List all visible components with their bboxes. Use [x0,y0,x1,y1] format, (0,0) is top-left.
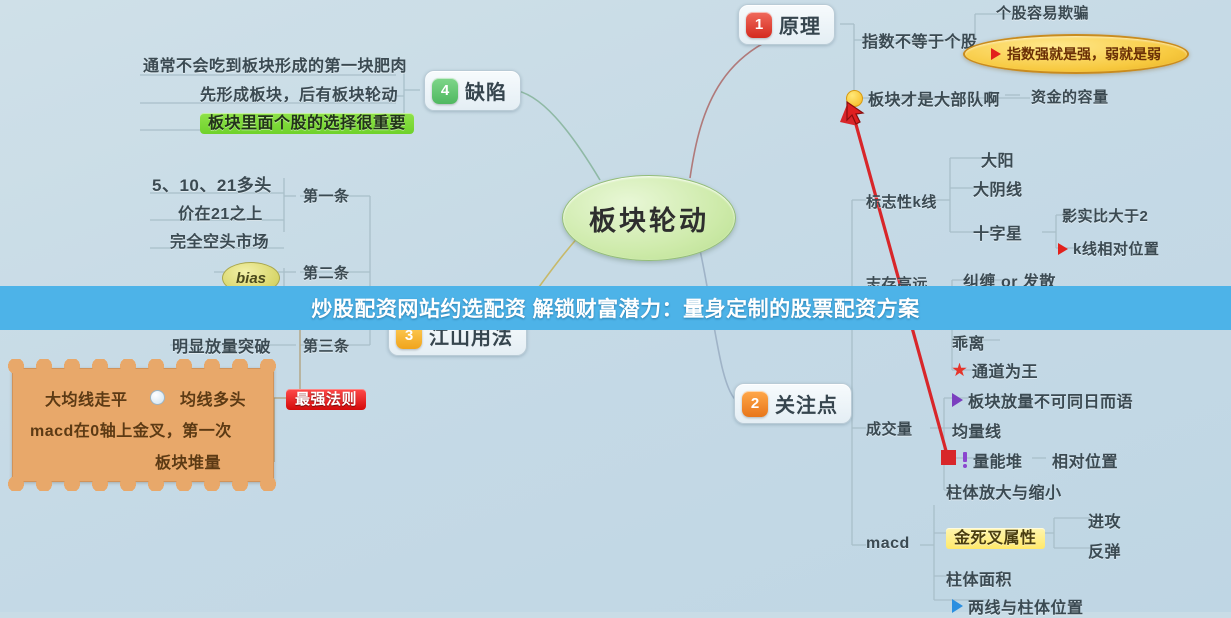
volume-item-5[interactable]: 柱体放大与缩小 [946,479,1062,503]
ma-item-4-label: 通道为王 [972,358,1038,382]
defect-item-3-highlight: 板块里面个股的选择很重要 [200,113,414,134]
strongest-item-3[interactable]: macd在0轴上金叉，第一次 [30,417,232,441]
index-strength-label: 指数强就是强，弱就是弱 [1007,44,1161,64]
play-triangle-icon [952,393,963,407]
main-topic-principle[interactable]: 1 原理 [738,4,835,45]
macd-item-3[interactable]: 两线与柱体位置 [952,594,1084,618]
mindmap-canvas: 板块轮动 4 缺陷 3 江山用法 1 原理 2 关注点 通常不会吃到板块形成的第… [0,0,1231,612]
main-topic-focus[interactable]: 2 关注点 [734,383,852,424]
badge-1: 1 [746,12,772,38]
volume-item-1-label: 板块放量不可同日而语 [968,388,1133,412]
strongest-item-4[interactable]: 板块堆量 [155,449,221,473]
main-topic-defect[interactable]: 4 缺陷 [424,70,521,111]
mouse-pointer-icon [845,100,867,126]
rule2-label[interactable]: 第二条 [303,262,350,283]
kline-item-2[interactable]: 大阴线 [973,176,1023,200]
volume-item-1[interactable]: 板块放量不可同日而语 [952,388,1133,412]
index-strength-node[interactable]: 指数强就是强，弱就是弱 [963,34,1189,74]
strongest-rule-badge[interactable]: 最强法则 [286,388,366,409]
ma-item-3[interactable]: 乖离 [952,330,985,354]
principle-sub-1[interactable]: 个股容易欺骗 [996,2,1089,23]
volume-group-label[interactable]: 成交量 [866,418,913,439]
rule3-item-1[interactable]: 明显放量突破 [172,333,271,357]
strongest-item-1[interactable]: 大均线走平 [45,386,128,410]
principle-sub-2[interactable]: 资金的容量 [1031,86,1109,107]
play-triangle-icon [1058,243,1068,255]
main-topic-defect-label: 缺陷 [465,76,507,105]
macd-item-1-highlight: 金死叉属性 [946,528,1045,549]
star-icon [952,363,967,378]
defect-item-2[interactable]: 先形成板块，后有板块轮动 [200,81,398,105]
play-triangle-icon [991,48,1001,60]
kline-sub-1[interactable]: 影实比大于2 [1062,205,1148,226]
center-node-label: 板块轮动 [589,199,709,238]
rule1-item-1[interactable]: 5、10、21多头 [152,171,272,196]
volume-item-2[interactable]: 均量线 [952,418,1002,442]
bullet-dot-icon [150,390,165,405]
rule1-label[interactable]: 第一条 [303,185,350,206]
principle-item-1[interactable]: 指数不等于个股 [862,28,978,52]
badge-4: 4 [432,78,458,104]
ma-item-4[interactable]: 通道为王 [952,358,1038,382]
strongest-item-2[interactable]: 均线多头 [180,386,246,410]
volume-item-4[interactable]: 相对位置 [1052,448,1118,472]
macd-item-3-label: 两线与柱体位置 [968,594,1084,618]
strongest-rule-label: 最强法则 [286,389,366,410]
volume-item-3-label: 量能堆 [973,448,1023,472]
exclamation-icon [962,452,968,468]
badge-2: 2 [742,391,768,417]
macd-sub-attack[interactable]: 进攻 [1088,508,1121,532]
principle-item-2[interactable]: 板块才是大部队啊 [846,86,1000,110]
rule1-item-3[interactable]: 完全空头市场 [170,228,269,252]
macd-group-label[interactable]: macd [866,535,910,553]
main-topic-focus-label: 关注点 [775,389,838,418]
volume-item-3[interactable]: 量能堆 [962,448,1023,472]
macd-item-1[interactable]: 金死叉属性 [946,524,1045,548]
kline-group-label[interactable]: 标志性k线 [866,191,937,212]
macd-item-2[interactable]: 柱体面积 [946,566,1012,590]
kline-item-3[interactable]: 十字星 [973,220,1023,244]
defect-item-1[interactable]: 通常不会吃到板块形成的第一块肥肉 [143,52,407,76]
kline-item-1[interactable]: 大阳 [981,147,1014,171]
promo-banner-text: 炒股配资网站约选配资 解锁财富潜力：量身定制的股票配资方案 [311,293,919,323]
rule1-item-2[interactable]: 价在21之上 [178,200,263,224]
kline-sub-2-label: k线相对位置 [1073,238,1159,259]
rule3-label[interactable]: 第三条 [303,335,350,356]
main-topic-principle-label: 原理 [779,10,821,39]
defect-item-3[interactable]: 板块里面个股的选择很重要 [200,109,414,133]
promo-banner[interactable]: 炒股配资网站约选配资 解锁财富潜力：量身定制的股票配资方案 [0,286,1231,330]
bias-label: bias [236,270,266,287]
kline-sub-2[interactable]: k线相对位置 [1058,238,1159,259]
principle-item-2-label: 板块才是大部队啊 [868,86,1000,110]
play-triangle-icon [952,599,963,613]
macd-sub-rebound[interactable]: 反弹 [1088,538,1121,562]
center-node[interactable]: 板块轮动 [562,175,736,261]
